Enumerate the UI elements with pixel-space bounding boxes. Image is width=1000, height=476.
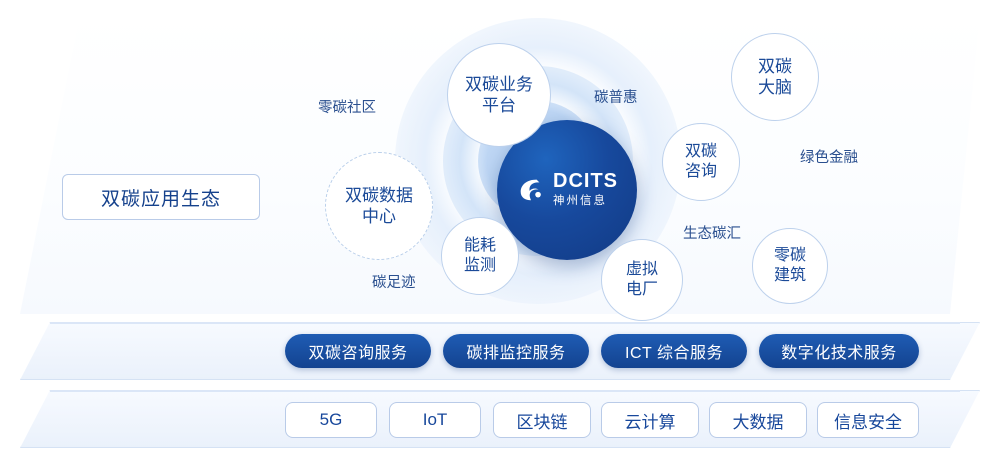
dcits-swirl-icon bbox=[516, 174, 546, 204]
bubble-energy-monitoring[interactable]: 能耗 监测 bbox=[441, 217, 519, 295]
bubble-data-center[interactable]: 双碳数据 中心 bbox=[325, 152, 433, 260]
bubble-line: 零碳 bbox=[774, 246, 806, 266]
bubble-line: 咨询 bbox=[685, 162, 717, 182]
bubble-line: 平台 bbox=[465, 95, 533, 116]
service-pill-digital-tech[interactable]: 数字化技术服务 bbox=[759, 334, 919, 368]
core-brand-name: DCITS bbox=[553, 171, 618, 192]
bubble-line: 双碳 bbox=[685, 142, 717, 162]
infra-pill-big-data[interactable]: 大数据 bbox=[709, 402, 807, 438]
label-carbon-inclusion: 碳普惠 bbox=[594, 86, 638, 107]
bubble-line: 双碳业务 bbox=[465, 74, 533, 95]
bubble-consulting[interactable]: 双碳 咨询 bbox=[662, 123, 740, 201]
bubble-line: 虚拟 bbox=[626, 260, 658, 280]
layer-label-application: 双碳应用生态 bbox=[62, 174, 260, 220]
infra-pill-iot[interactable]: IoT bbox=[389, 402, 481, 438]
infra-pill-5g[interactable]: 5G bbox=[285, 402, 377, 438]
bubble-line: 大脑 bbox=[758, 77, 792, 98]
bubble-line: 电厂 bbox=[626, 280, 658, 300]
bubble-line: 监测 bbox=[464, 256, 496, 276]
label-green-finance: 绿色金融 bbox=[800, 146, 858, 167]
bubble-business-platform[interactable]: 双碳业务 平台 bbox=[447, 43, 551, 147]
label-eco-carbon-sink: 生态碳汇 bbox=[683, 222, 741, 243]
label-carbon-footprint: 碳足迹 bbox=[372, 271, 416, 292]
core-brand-name-cn: 神州信息 bbox=[553, 195, 618, 207]
infra-pill-cloud-computing[interactable]: 云计算 bbox=[601, 402, 699, 438]
infra-pill-blockchain[interactable]: 区块链 bbox=[493, 402, 591, 438]
bubble-line: 双碳数据 bbox=[345, 185, 413, 206]
bubble-line: 双碳 bbox=[758, 56, 792, 77]
bubble-line: 建筑 bbox=[774, 266, 806, 286]
service-pill-emission-monitoring[interactable]: 碳排监控服务 bbox=[443, 334, 589, 368]
bubble-virtual-power-plant[interactable]: 虚拟 电厂 bbox=[601, 239, 683, 321]
service-pill-ict-integrated[interactable]: ICT 综合服务 bbox=[601, 334, 747, 368]
bubble-brain[interactable]: 双碳 大脑 bbox=[731, 33, 819, 121]
bubble-line: 中心 bbox=[345, 206, 413, 227]
bubble-zero-carbon-building[interactable]: 零碳 建筑 bbox=[752, 228, 828, 304]
label-zero-carbon-community: 零碳社区 bbox=[318, 96, 376, 117]
infra-pill-information-security[interactable]: 信息安全 bbox=[817, 402, 919, 438]
service-band-edge bbox=[50, 322, 960, 324]
bubble-line: 能耗 bbox=[464, 236, 496, 256]
service-pill-consulting[interactable]: 双碳咨询服务 bbox=[285, 334, 431, 368]
infrastructure-band-edge bbox=[50, 390, 960, 392]
